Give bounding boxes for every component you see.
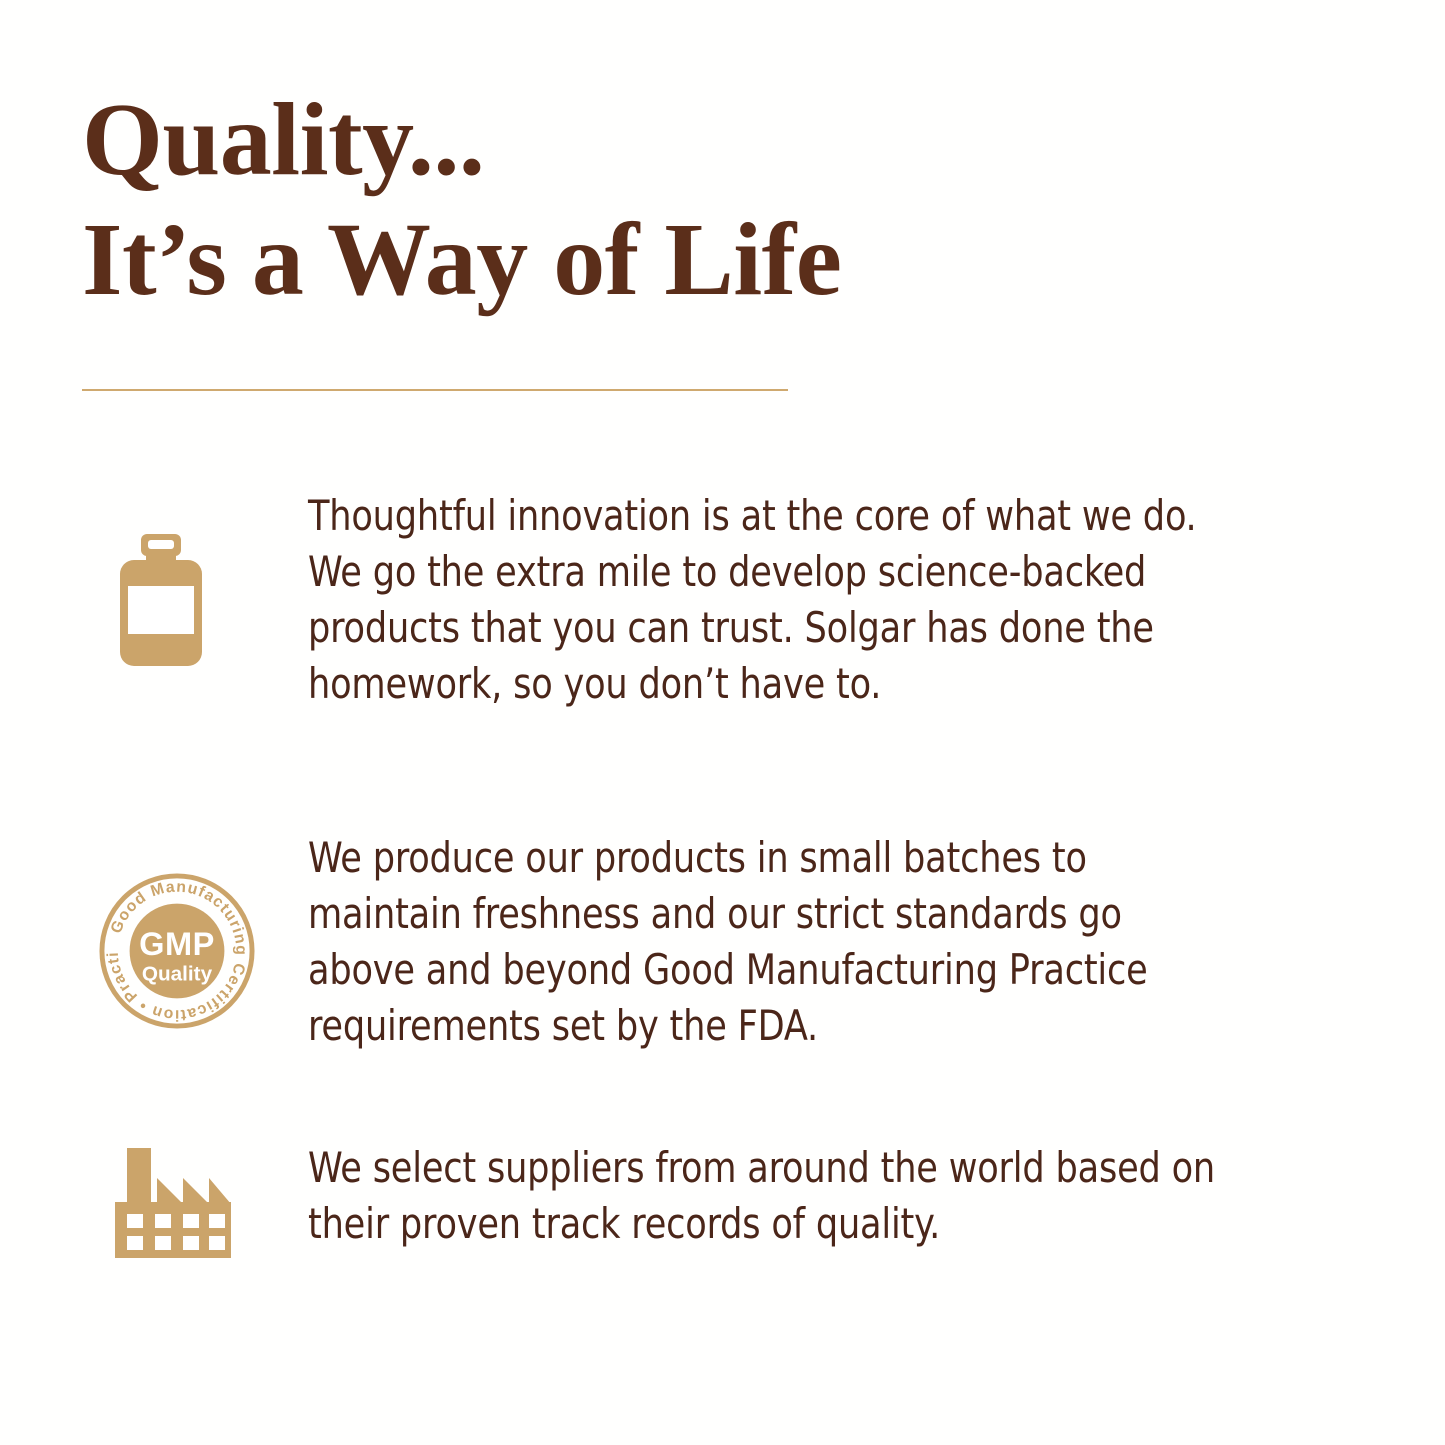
gmp-center-line-1: GMP [139, 926, 215, 962]
title-divider [82, 389, 788, 391]
feature-icon-cell [0, 1140, 308, 1262]
page-title: Quality... It’s a Way of Life [82, 88, 1282, 312]
feature-text-suppliers: We select suppliers from around the worl… [308, 1140, 1238, 1252]
feature-item-gmp: Good Manufacturing Certification • Pract… [0, 830, 1445, 1054]
feature-paragraph: Thoughtful innovation is at the core of … [308, 488, 1238, 712]
feature-icon-cell [0, 488, 308, 666]
gmp-center-line-2: Quality [142, 963, 213, 986]
feature-text-innovation: Thoughtful innovation is at the core of … [308, 488, 1238, 712]
quality-page: Quality... It’s a Way of Life Thoughtful… [0, 0, 1445, 1445]
feature-text-gmp: We produce our products in small batches… [308, 830, 1238, 1054]
feature-paragraph: We select suppliers from around the worl… [308, 1140, 1238, 1252]
feature-item-suppliers: We select suppliers from around the worl… [0, 1140, 1445, 1262]
page-title-line-1: Quality... [82, 88, 1282, 192]
supplement-bottle-icon [118, 534, 204, 666]
feature-paragraph: We produce our products in small batches… [308, 830, 1238, 1054]
feature-item-innovation: Thoughtful innovation is at the core of … [0, 488, 1445, 712]
feature-icon-cell: Good Manufacturing Certification • Pract… [0, 830, 308, 1030]
gmp-quality-seal-icon: Good Manufacturing Certification • Pract… [98, 872, 256, 1030]
page-title-line-2: It’s a Way of Life [82, 208, 1282, 312]
factory-icon [113, 1146, 237, 1262]
